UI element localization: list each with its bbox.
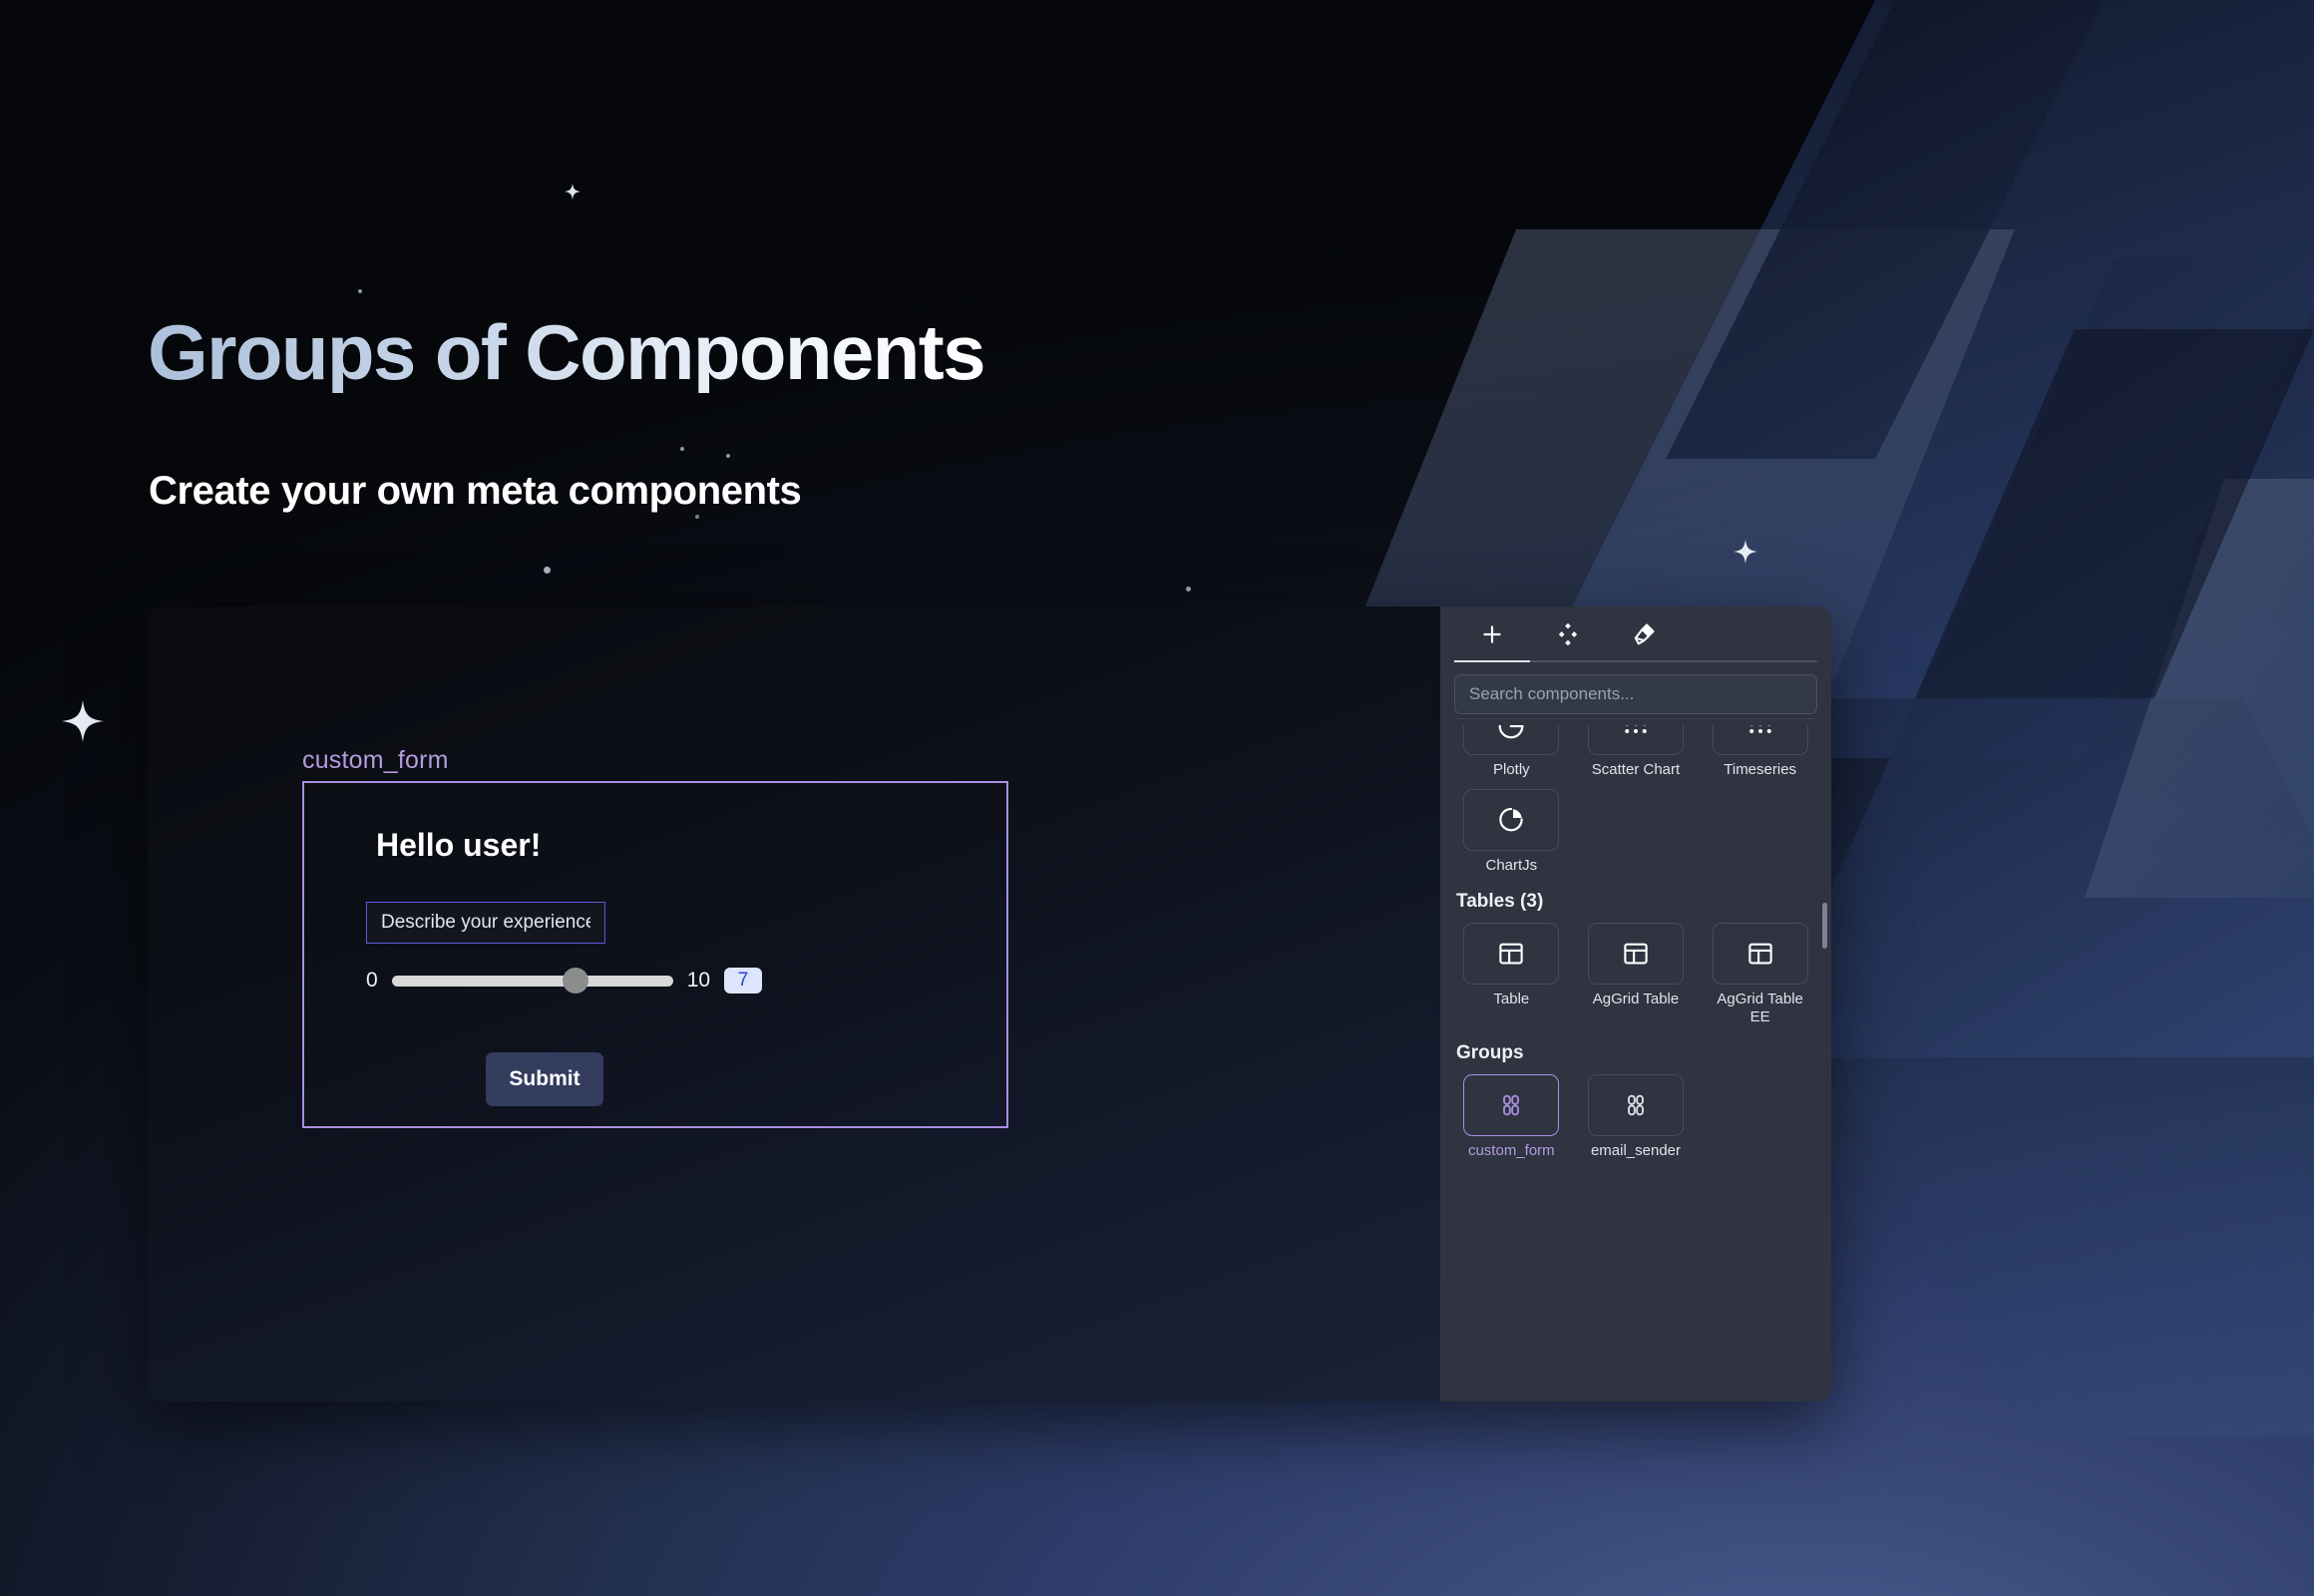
styles-tab[interactable] (1606, 606, 1682, 662)
scatter-dots-icon (1621, 725, 1651, 741)
charts-row-2: ChartJs (1454, 789, 1817, 875)
search-wrap (1440, 662, 1831, 714)
palette-tile (1463, 923, 1559, 985)
custom-form-group[interactable]: Hello user! 0 10 7 Submit (302, 781, 1008, 1128)
palette-tile (1463, 725, 1559, 755)
palette-tile (1713, 725, 1808, 755)
slider-thumb[interactable] (563, 968, 588, 994)
page-title: Groups of Components (148, 312, 984, 393)
pie-chart-icon (1496, 805, 1526, 835)
paintbrush-icon (1631, 621, 1657, 647)
sparkle-icon (1733, 539, 1758, 565)
decor-dot (726, 454, 730, 458)
slider-track[interactable] (392, 976, 673, 987)
palette-scrollbar[interactable] (1822, 903, 1827, 949)
palette-item-email-sender[interactable]: email_sender (1579, 1074, 1694, 1160)
palette-item-timeseries[interactable]: Timeseries (1703, 725, 1817, 779)
sparkle-icon (60, 698, 106, 744)
table-icon (1621, 939, 1651, 969)
palette-tile (1588, 923, 1684, 985)
slider-value-badge: 7 (724, 968, 762, 994)
add-component-tab[interactable] (1454, 606, 1530, 662)
search-input[interactable] (1454, 674, 1817, 714)
tabs-underline (1454, 660, 1817, 662)
tables-row: Table AgGrid Table (1454, 923, 1817, 1026)
panel-tabs (1440, 606, 1831, 662)
palette-tile (1463, 789, 1559, 851)
palette-item-label: AgGrid Table EE (1708, 991, 1813, 1026)
decor-dot (680, 447, 684, 451)
group-icon (1622, 1091, 1650, 1119)
page-root: Groups of Components Create your own met… (0, 0, 2314, 1596)
plus-icon (1479, 621, 1505, 647)
palette-tile (1463, 1074, 1559, 1136)
submit-button[interactable]: Submit (486, 1052, 603, 1106)
scatter-dots-icon (1745, 725, 1775, 741)
sparkle-icon (564, 183, 581, 200)
decor-dot (695, 515, 699, 519)
decor-dot (544, 567, 551, 574)
components-tree-tab[interactable] (1530, 606, 1606, 662)
donut-chart-icon (1496, 725, 1526, 741)
table-icon (1745, 939, 1775, 969)
slider-max-label: 10 (687, 969, 710, 993)
decor-dot (1186, 587, 1191, 592)
group-name-label: custom_form (302, 746, 449, 775)
palette-item-label: Plotly (1493, 761, 1530, 779)
slider-min-label: 0 (366, 969, 378, 993)
page-subtitle: Create your own meta components (149, 469, 801, 514)
palette-item-label: custom_form (1468, 1142, 1555, 1160)
palette-item-aggrid-table-ee[interactable]: AgGrid Table EE (1703, 923, 1817, 1026)
editor-canvas[interactable]: custom_form Hello user! 0 10 7 Submit (148, 606, 1440, 1401)
tables-section-title: Tables (3) (1456, 891, 1817, 913)
palette-divider (1454, 718, 1817, 719)
palette-item-chartjs[interactable]: ChartJs (1454, 789, 1569, 875)
groups-section-title: Groups (1456, 1042, 1817, 1064)
charts-row: Plotly Scatter Chart (1454, 725, 1817, 779)
palette-tile (1713, 923, 1808, 985)
palette-item-label: Scatter Chart (1592, 761, 1680, 779)
palette-item-aggrid-table[interactable]: AgGrid Table (1579, 923, 1694, 1026)
decor-dot (358, 289, 362, 293)
palette-item-custom-form[interactable]: custom_form (1454, 1074, 1569, 1160)
palette-item-table[interactable]: Table (1454, 923, 1569, 1026)
form-greeting: Hello user! (376, 827, 541, 864)
palette-item-label: Table (1493, 991, 1529, 1008)
palette-item-scatter-chart[interactable]: Scatter Chart (1579, 725, 1694, 779)
groups-row: custom_form email_sender (1454, 1074, 1817, 1160)
component-panel: Plotly Scatter Chart (1440, 606, 1831, 1401)
experience-input[interactable] (366, 902, 605, 944)
palette-item-plotly[interactable]: Plotly (1454, 725, 1569, 779)
palette-item-label: email_sender (1591, 1142, 1681, 1160)
palette-item-label: ChartJs (1485, 857, 1537, 875)
rating-slider-row[interactable]: 0 10 7 (366, 968, 762, 994)
palette-item-label: AgGrid Table (1593, 991, 1679, 1008)
component-palette[interactable]: Plotly Scatter Chart (1440, 718, 1831, 1401)
palette-tile (1588, 725, 1684, 755)
table-icon (1496, 939, 1526, 969)
palette-item-label: Timeseries (1724, 761, 1796, 779)
diamonds-icon (1555, 621, 1581, 647)
group-icon (1497, 1091, 1525, 1119)
palette-tile (1588, 1074, 1684, 1136)
app-window: custom_form Hello user! 0 10 7 Submit (148, 606, 1831, 1401)
